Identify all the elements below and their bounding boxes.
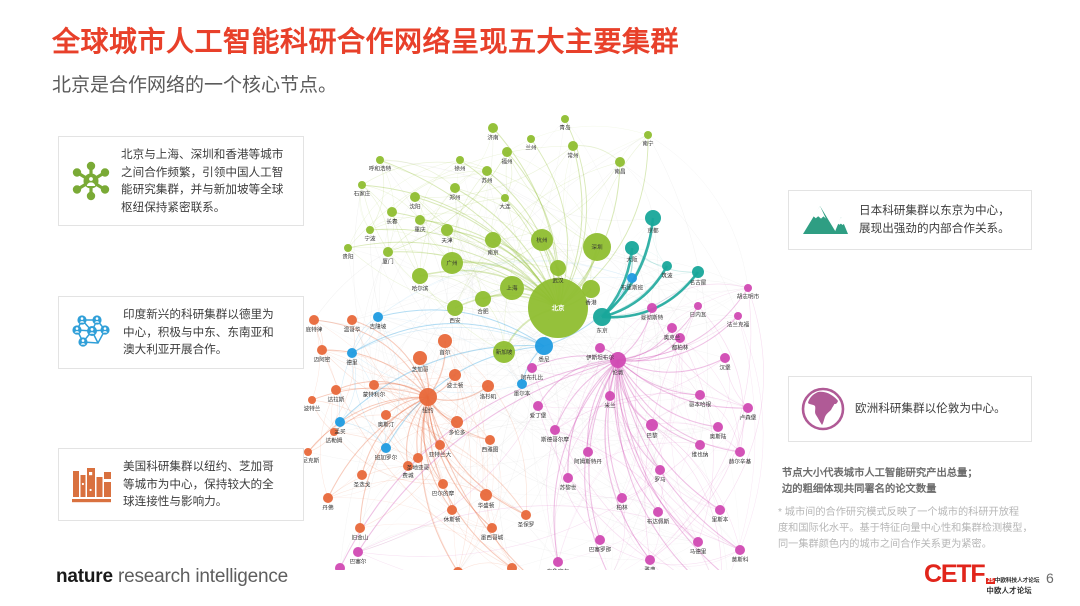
network-node — [482, 166, 492, 176]
network-node — [366, 226, 374, 234]
network-node — [605, 391, 615, 401]
network-node-label: 爱丁堡 — [530, 412, 547, 420]
network-node-label: 华盛顿 — [478, 502, 495, 510]
network-node — [475, 291, 491, 307]
network-node-label: 阿布扎比 — [521, 374, 544, 382]
network-node — [438, 479, 448, 489]
network-node — [568, 141, 578, 151]
network-edge — [358, 276, 427, 552]
network-node-label: 武汉 — [552, 277, 564, 285]
network-node — [335, 563, 345, 570]
network-node — [617, 493, 627, 503]
network-node-label: 丹佛 — [322, 504, 334, 512]
network-node — [456, 156, 464, 164]
network-node-label: 圣地亚哥 — [407, 464, 430, 472]
network-node-label: 厦门 — [382, 258, 394, 266]
network-node — [383, 247, 393, 257]
network-node — [369, 380, 379, 390]
network-node-label: 济南 — [487, 134, 499, 142]
network-node-label: 新加坡 — [496, 348, 513, 356]
network-node-label: 墨尔本 — [514, 390, 531, 398]
network-node-label: 班加罗尔 — [375, 454, 398, 462]
cetf-mark: CETF — [924, 562, 984, 587]
network-node-label: 杭州 — [536, 236, 547, 244]
network-node-label: 长春 — [386, 218, 398, 226]
network-node — [419, 388, 437, 406]
network-node-label: 费城 — [402, 472, 414, 480]
network-node — [373, 312, 383, 322]
network-node — [309, 315, 319, 325]
mountain-icon — [800, 200, 850, 240]
books-icon — [70, 463, 114, 505]
network-node-label: 墨西哥城 — [481, 535, 504, 542]
network-node — [488, 123, 498, 133]
callout-usa[interactable]: 美国科研集群以纽约、芝加哥 等城市为中心，保持较大的全 球连接性与影响力。 — [58, 448, 304, 521]
network-node — [734, 312, 742, 320]
network-node — [713, 422, 723, 432]
network-node-label: 德里 — [346, 359, 358, 367]
network-edge — [504, 317, 672, 352]
page-subtitle: 北京是合作网络的一个核心节点。 — [52, 70, 337, 97]
network-node-label: 宁波 — [364, 235, 376, 243]
network-edge — [720, 288, 764, 510]
network-node — [521, 510, 531, 520]
network-node — [308, 396, 316, 404]
slide-root: 全球城市人工智能科研合作网络呈现五大主要集群 北京是合作网络的一个核心节点。 北… — [0, 0, 1080, 606]
network-node — [376, 156, 384, 164]
network-node — [655, 465, 665, 475]
network-node-label: 达勒姆 — [326, 437, 343, 445]
nature-logo: nature research intelligence — [56, 566, 288, 588]
network-node-label: 大连 — [499, 203, 511, 211]
network-node — [615, 157, 625, 167]
people-network-icon — [70, 310, 114, 354]
network-node — [550, 425, 560, 435]
network-node-label: 法兰克福 — [727, 321, 750, 329]
collaboration-network-graph: 北京上海深圳杭州广州武汉南京香港合肥西安哈尔滨天津沈阳重庆郑州苏州厦门长春宁波贵… — [300, 100, 770, 570]
network-node — [331, 385, 341, 395]
network-node-label: 孟买 — [334, 428, 346, 436]
network-node — [533, 401, 543, 411]
network-node-label: 莫斯科 — [732, 556, 749, 564]
network-node — [451, 416, 463, 428]
network-node-label: 天津 — [441, 238, 453, 245]
network-node-label: 西雅图 — [482, 446, 499, 454]
network-node — [449, 369, 461, 381]
network-node — [645, 555, 655, 565]
callout-usa-text: 美国科研集群以纽约、芝加哥 等城市为中心，保持较大的全 球连接性与影响力。 — [123, 458, 274, 511]
network-node — [323, 493, 333, 503]
legend-note: 节点大小代表城市人工智能研究产出总量； 边的粗细体现共同署名的论文数量 — [782, 466, 1054, 498]
footnote: * 城市间的合作研究模式反映了一个城市的科研开放程 度和国际化水平。基于特征向量… — [778, 505, 1060, 552]
network-node-label: 广州 — [446, 259, 457, 267]
network-node-label: 曼彻斯特 — [641, 314, 664, 322]
network-node — [743, 403, 753, 413]
network-node-label: 大阪 — [626, 256, 638, 264]
network-node — [355, 523, 365, 533]
network-node — [381, 410, 391, 420]
network-node-label: 巴塞尔 — [350, 558, 367, 566]
network-node-label: 迈阿密 — [314, 356, 331, 364]
network-node-label: 吉隆坡 — [370, 323, 387, 331]
network-node-label: 伦敦 — [612, 369, 624, 377]
network-node-label: 苏黎世 — [560, 484, 577, 492]
nature-logo-rest: research intelligence — [113, 566, 288, 587]
network-node — [317, 345, 327, 355]
network-node-label: 斯德哥尔摩 — [541, 436, 569, 444]
network-node-label: 悉尼 — [538, 356, 550, 364]
network-node-label: 哥本哈根 — [689, 401, 712, 409]
callout-india[interactable]: 印度新兴的科研集群以德里为 中心，积极与中东、东南亚和 澳大利亚开展合作。 — [58, 296, 304, 369]
network-node — [644, 131, 652, 139]
network-node-label: 赫尔辛基 — [729, 458, 752, 466]
network-node — [563, 473, 573, 483]
network-node-label: 波特兰 — [304, 405, 321, 413]
network-node-label: 福州 — [501, 158, 512, 166]
network-node-label: 西安 — [449, 317, 461, 325]
callout-india-text: 印度新兴的科研集群以德里为 中心，积极与中东、东南亚和 澳大利亚开展合作。 — [123, 306, 274, 359]
network-node-label: 米兰 — [604, 402, 616, 410]
cetf-row2: 中欧人才论坛 — [986, 587, 1039, 595]
network-edge — [622, 328, 676, 498]
network-node-label: 布鲁塞尔 — [547, 568, 570, 571]
network-node-label: 深圳 — [591, 243, 603, 251]
network-node — [438, 334, 452, 348]
network-node — [744, 284, 752, 292]
network-node — [561, 115, 569, 123]
network-node-label: 伊斯坦布尔 — [586, 354, 614, 362]
network-node-label: 旧金山 — [352, 534, 369, 542]
network-node — [694, 302, 702, 310]
network-node-label: 奥克兰 — [664, 334, 681, 342]
network-node — [447, 505, 457, 515]
callout-china[interactable]: 北京与上海、深圳和香港等城市 之间合作频繁，引领中国人工智 能研究集群，并与新加… — [58, 136, 304, 226]
network-node-label: 名古屋 — [690, 279, 707, 287]
network-node-label: 芝加哥 — [412, 366, 429, 374]
cetf-logo: CETF 25中欧科技人才论坛 中欧人才论坛 — [924, 562, 1039, 594]
globe-icon — [800, 386, 846, 432]
network-node-label: 京都 — [647, 227, 659, 235]
network-node-label: 柏林 — [616, 504, 628, 512]
network-node-label: 卢森堡 — [740, 414, 757, 422]
callout-china-text: 北京与上海、深圳和香港等城市 之间合作频繁，引领中国人工智 能研究集群，并与新加… — [121, 146, 283, 216]
network-node — [662, 261, 672, 271]
network-node — [502, 147, 512, 157]
network-node — [625, 241, 639, 255]
network-node — [695, 390, 705, 400]
network-node-label: 哈尔滨 — [412, 285, 429, 293]
network-node-label: 圣保罗 — [518, 521, 535, 529]
network-node-label: 贵阳 — [342, 253, 354, 261]
network-node-label: 波士顿 — [447, 382, 464, 390]
network-node — [347, 315, 357, 325]
network-node — [735, 447, 745, 457]
network-node — [358, 181, 366, 189]
network-node — [595, 535, 605, 545]
network-node-label: 常州 — [567, 152, 578, 160]
network-node-label: 巴塞罗那 — [589, 546, 612, 554]
network-node — [387, 207, 397, 217]
network-node-label: 南昌 — [614, 168, 625, 176]
network-node — [485, 232, 501, 248]
network-svg: 北京上海深圳杭州广州武汉南京香港合肥西安哈尔滨天津沈阳重庆郑州苏州厦门长春宁波贵… — [300, 100, 770, 570]
callout-japan-text: 日本科研集群以东京为中心， 展现出强劲的内部合作关系。 — [859, 202, 1010, 237]
network-node-label: 休斯顿 — [444, 516, 461, 524]
network-node-label: 北京 — [552, 303, 565, 312]
network-node — [735, 545, 745, 555]
callout-japan[interactable]: 日本科研集群以东京为中心， 展现出强劲的内部合作关系。 — [788, 190, 1032, 250]
network-node — [527, 135, 535, 143]
network-node-label: 郑州 — [449, 194, 460, 202]
network-node-label: 沈阳 — [409, 203, 421, 211]
network-edge — [358, 506, 740, 552]
network-node-label: 苏州 — [481, 177, 492, 185]
network-node-label: 香港 — [585, 299, 597, 307]
network-node — [335, 417, 345, 427]
network-edge — [420, 358, 718, 437]
network-node — [715, 505, 725, 515]
network-node-label: 布达佩斯 — [647, 518, 670, 526]
network-node — [550, 260, 566, 276]
network-node-label: 多伦多 — [449, 429, 466, 437]
network-node — [582, 280, 600, 298]
page-number: 6 — [1046, 570, 1054, 586]
network-node-label: 日内瓦 — [690, 311, 707, 319]
network-node-label: 布里斯班 — [621, 284, 644, 292]
network-node — [692, 266, 704, 278]
network-node-label: 南京 — [487, 249, 499, 257]
cetf-badge: 25 — [986, 578, 994, 584]
network-node-label: 巴黎 — [646, 432, 658, 440]
network-node — [487, 523, 497, 533]
network-node — [410, 192, 420, 202]
network-node — [553, 557, 563, 567]
cetf-row1: 25中欧科技人才论坛 — [986, 578, 1039, 584]
network-node — [347, 348, 357, 358]
network-node — [667, 323, 677, 333]
network-node — [480, 489, 492, 501]
network-node-label: 阿姆斯特丹 — [574, 458, 602, 466]
network-node — [415, 215, 425, 225]
network-node-label: 罗马 — [654, 476, 666, 484]
network-node — [412, 268, 428, 284]
network-node — [647, 303, 657, 313]
network-node-label: 洛杉矶 — [480, 393, 497, 401]
network-node — [353, 547, 363, 557]
network-node — [653, 507, 663, 517]
network-node-label: 达拉斯 — [328, 396, 345, 404]
network-node — [482, 380, 494, 392]
network-node-label: 蒙特利尔 — [363, 391, 386, 399]
network-edge — [415, 146, 573, 197]
network-node-label: 徐州 — [454, 165, 465, 173]
network-edge — [340, 568, 536, 570]
network-node — [645, 210, 661, 226]
network-node-label: 维也纳 — [692, 451, 709, 459]
network-node — [447, 300, 463, 316]
network-node — [381, 443, 391, 453]
network-node — [720, 353, 730, 363]
network-node-label: 呼和浩特 — [369, 165, 392, 173]
network-node — [344, 244, 352, 252]
network-node-label: 巴尔的摩 — [432, 490, 455, 498]
network-node — [695, 440, 705, 450]
network-node — [304, 448, 312, 456]
network-node-label: 胡志明市 — [737, 293, 760, 301]
network-node-label: 马德里 — [690, 548, 707, 556]
network-node — [583, 447, 593, 457]
network-node — [485, 435, 495, 445]
page-title: 全球城市人工智能科研合作网络呈现五大主要集群 — [52, 20, 679, 60]
network-node — [435, 440, 445, 450]
network-node — [413, 351, 427, 365]
callout-europe[interactable]: 欧洲科研集群以伦敦为中心。 — [788, 376, 1032, 442]
network-node-label: 南宁 — [642, 140, 654, 148]
network-node — [693, 537, 703, 547]
network-node-label: 圣迭戈 — [354, 481, 371, 489]
network-node-label: 里斯本 — [712, 516, 729, 524]
network-node — [501, 194, 509, 202]
network-node — [413, 453, 423, 463]
network-node-label: 兰州 — [525, 144, 536, 152]
network-node-label: 筑波 — [661, 272, 673, 280]
network-node-label: 亚特兰大 — [429, 451, 452, 459]
network-node-label: 青岛 — [559, 124, 571, 132]
network-node — [450, 183, 460, 193]
network-node-label: 温哥华 — [344, 326, 361, 334]
network-node-label: 首尔 — [439, 349, 451, 357]
network-node-label: 上海 — [506, 284, 518, 292]
network-edge — [312, 400, 334, 432]
cetf-subtext: 25中欧科技人才论坛 中欧人才论坛 — [986, 570, 1039, 594]
network-node-label: 奥斯汀 — [378, 421, 395, 429]
network-node-label: 石家庄 — [354, 190, 371, 198]
network-node-label: 合肥 — [477, 308, 489, 316]
network-node — [535, 337, 553, 355]
network-node — [593, 308, 611, 326]
network-node-label: 底特律 — [306, 326, 323, 334]
network-node — [441, 224, 453, 236]
cetf-row1-text: 中欧科技人才论坛 — [995, 578, 1040, 584]
network-node-label: 汉堡 — [719, 364, 731, 372]
network-node — [357, 470, 367, 480]
network-node-label: 纽约 — [422, 407, 434, 415]
network-node-label: 重庆 — [414, 226, 426, 234]
network-node-label: 奥斯陆 — [710, 433, 727, 441]
nature-logo-bold: nature — [56, 566, 113, 587]
network-hub-icon — [70, 160, 112, 202]
network-node — [527, 363, 537, 373]
network-node — [646, 419, 658, 431]
network-node-label: 都柏林 — [672, 344, 689, 352]
callout-europe-text: 欧洲科研集群以伦敦为中心。 — [855, 400, 1006, 418]
network-node-label: 东京 — [596, 327, 608, 335]
network-node — [627, 273, 637, 283]
network-node — [595, 343, 605, 353]
